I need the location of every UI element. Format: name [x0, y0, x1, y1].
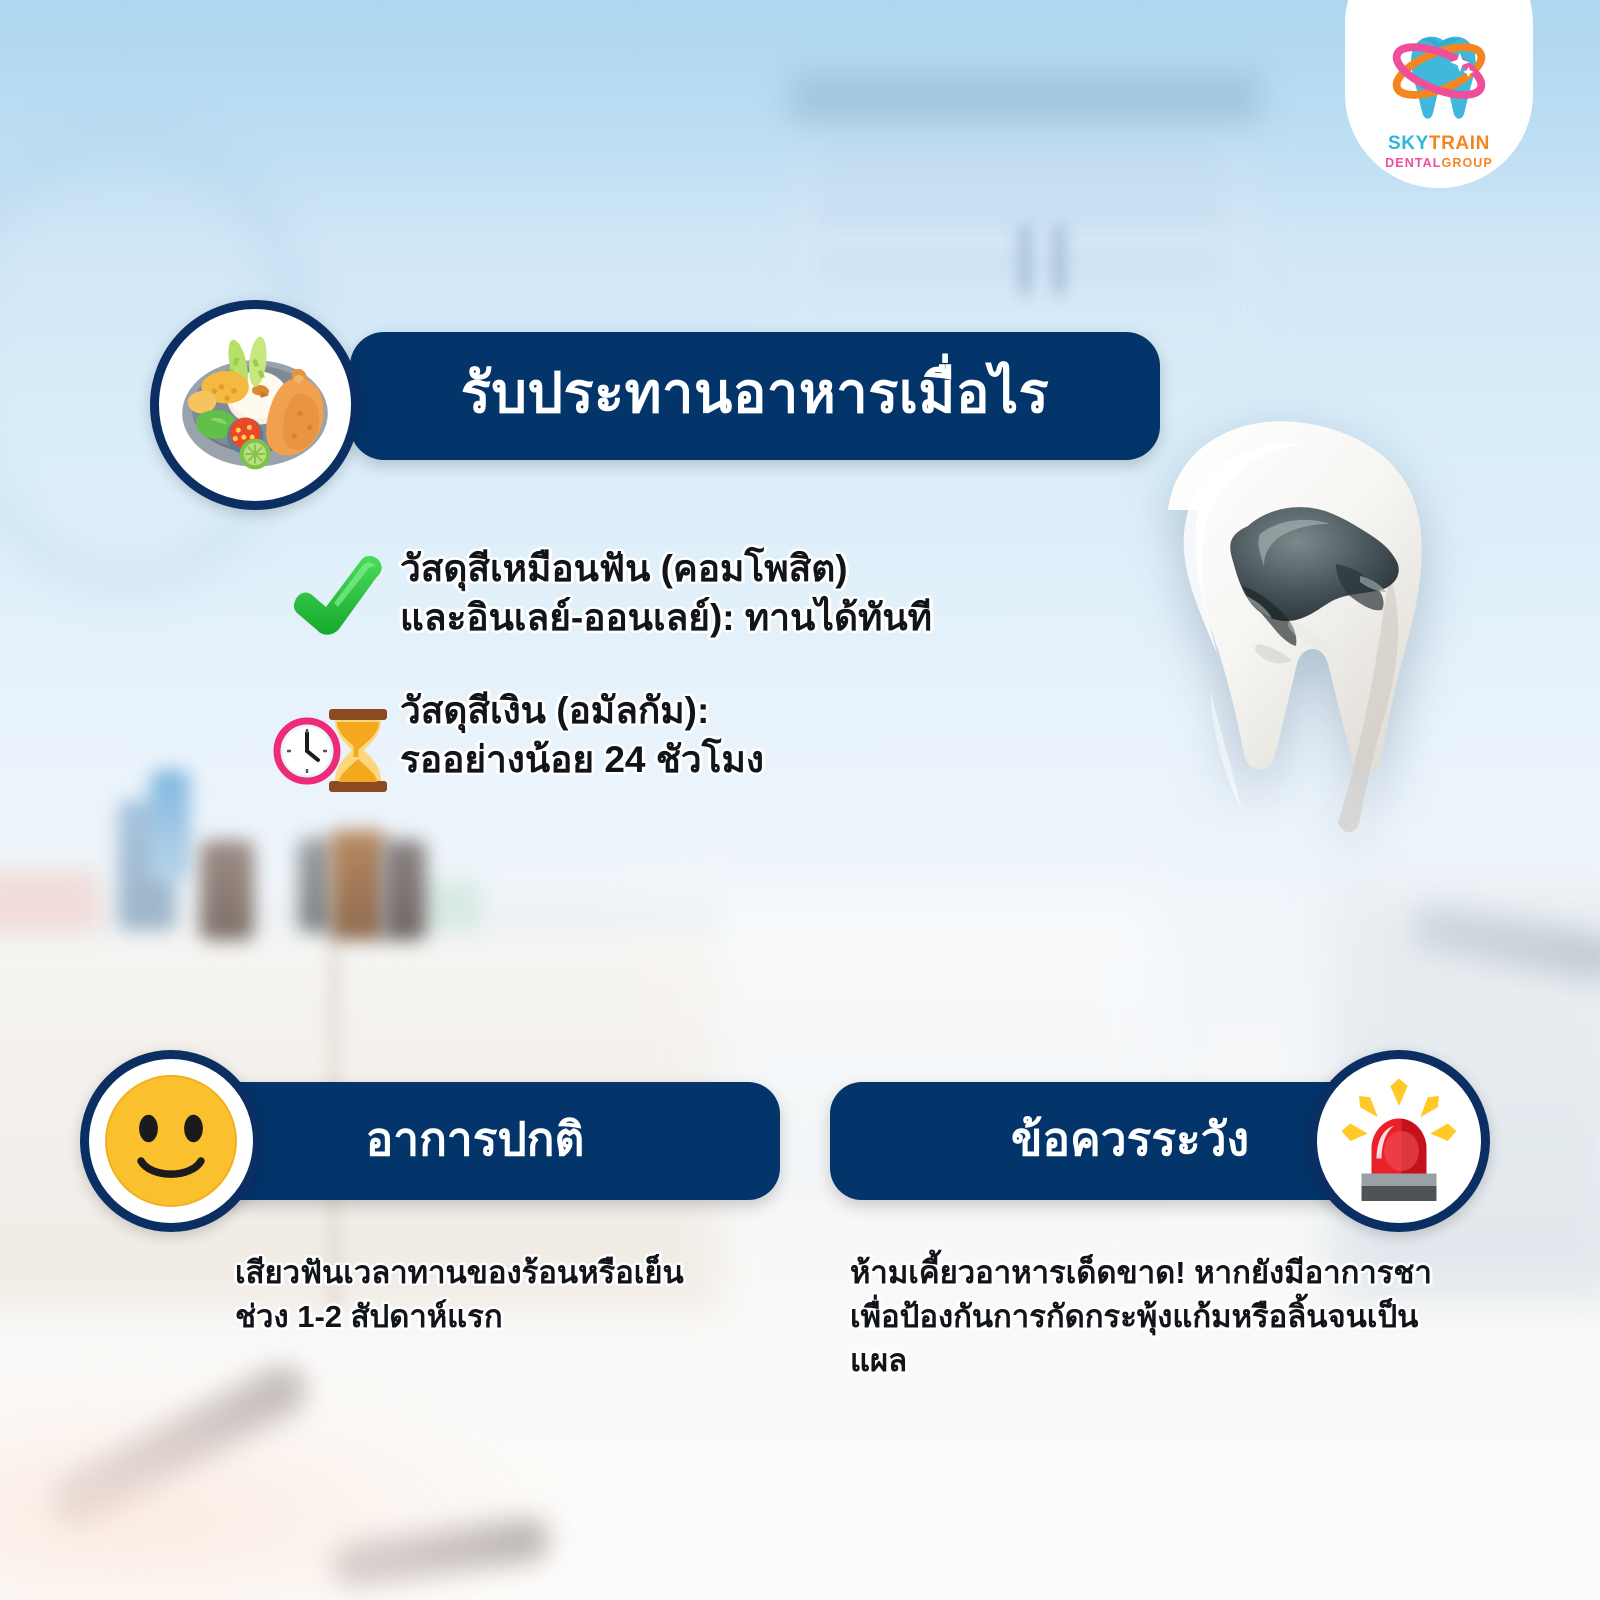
background-bottle	[150, 770, 190, 880]
green-check-icon	[270, 545, 400, 647]
background-bottle	[330, 830, 386, 940]
bullet-text: วัสดุสีเงิน (อมัลกัม): รออย่างน้อย 24 ชั…	[400, 687, 764, 785]
header-title-pill: รับประทานอาหารเมื่อไร	[350, 332, 1160, 460]
background-pink-box	[0, 870, 100, 930]
header-section: รับประทานอาหารเมื่อไร	[140, 300, 1040, 520]
section-body-line: ห้ามเคี้ยวอาหารเด็ดขาด! หากยังมีอาการชา	[850, 1251, 1530, 1295]
red-siren-alarm-icon	[1308, 1050, 1490, 1232]
section-header: อาการปกติ	[70, 1050, 810, 1235]
bullet-line: รออย่างน้อย 24 ชัวโมง	[400, 736, 764, 785]
section-body-line: แผล	[850, 1339, 1530, 1383]
molar-tooth-with-amalgam-filling	[1090, 390, 1510, 860]
smiley-face-icon	[80, 1050, 262, 1232]
section-body: เสียวฟันเวลาทานของร้อนหรือเย็น ช่วง 1-2 …	[235, 1251, 810, 1339]
brand-sub-part2: GROUP	[1442, 156, 1493, 170]
bullet-item: วัสดุสีเหมือนฟัน (คอมโพสิต) และอินเลย์-อ…	[270, 545, 1050, 647]
brand-name-part1: SKY	[1388, 133, 1429, 154]
background-bottle	[298, 838, 334, 932]
bullet-line: วัสดุสีเหมือนฟัน (คอมโพสิต)	[400, 545, 932, 594]
section-body-line: เสียวฟันเวลาทานของร้อนหรือเย็น	[235, 1251, 810, 1295]
section-normal-symptoms: อาการปกติ เสียวฟันเวลาทานของร้อนหรือเย็น…	[70, 1050, 810, 1339]
section-precautions: ข้อควรระวัง	[830, 1050, 1530, 1383]
bullet-list: วัสดุสีเหมือนฟัน (คอมโพสิต) และอินเลย์-อ…	[270, 545, 1050, 837]
infographic-canvas: SKYTRAIN DENTALGROUP รับประทานอาหารเมื่อ…	[0, 0, 1600, 1600]
bullet-line: และอินเลย์-ออนเลย์): ทานได้ทันที	[400, 594, 932, 643]
brand-logo-badge: SKYTRAIN DENTALGROUP	[1345, 0, 1533, 188]
section-header: ข้อควรระวัง	[830, 1050, 1530, 1235]
section-body: ห้ามเคี้ยวอาหารเด็ดขาด! หากยังมีอาการชา …	[850, 1251, 1530, 1383]
background-bottle	[200, 840, 254, 940]
tooth-atom-logo-icon	[1387, 30, 1491, 131]
brand-name-part2: TRAIN	[1429, 133, 1490, 154]
section-title: อาการปกติ	[366, 1116, 585, 1167]
section-title: ข้อควรระวัง	[1011, 1116, 1249, 1167]
brand-sub-part1: DENTAL	[1385, 156, 1441, 170]
section-body-line: ช่วง 1-2 สัปดาห์แรก	[235, 1295, 810, 1339]
background-warm-glow	[0, 1380, 560, 1600]
food-plate-icon	[150, 300, 360, 510]
bullet-line: วัสดุสีเงิน (อมัลกัม):	[400, 687, 764, 736]
brand-subwordmark: DENTALGROUP	[1385, 156, 1493, 170]
page-title: รับประทานอาหารเมื่อไร	[461, 365, 1049, 427]
clock-hourglass-icon	[270, 687, 400, 797]
background-bottle	[382, 840, 426, 940]
bullet-text: วัสดุสีเหมือนฟัน (คอมโพสิต) และอินเลย์-อ…	[400, 545, 932, 643]
bullet-item: วัสดุสีเงิน (อมัลกัม): รออย่างน้อย 24 ชั…	[270, 687, 1050, 797]
section-body-line: เพื่อป้องกันการกัดกระพุ้งแก้มหรือลิ้นจนเ…	[850, 1295, 1530, 1339]
brand-wordmark: SKYTRAIN	[1388, 133, 1490, 155]
